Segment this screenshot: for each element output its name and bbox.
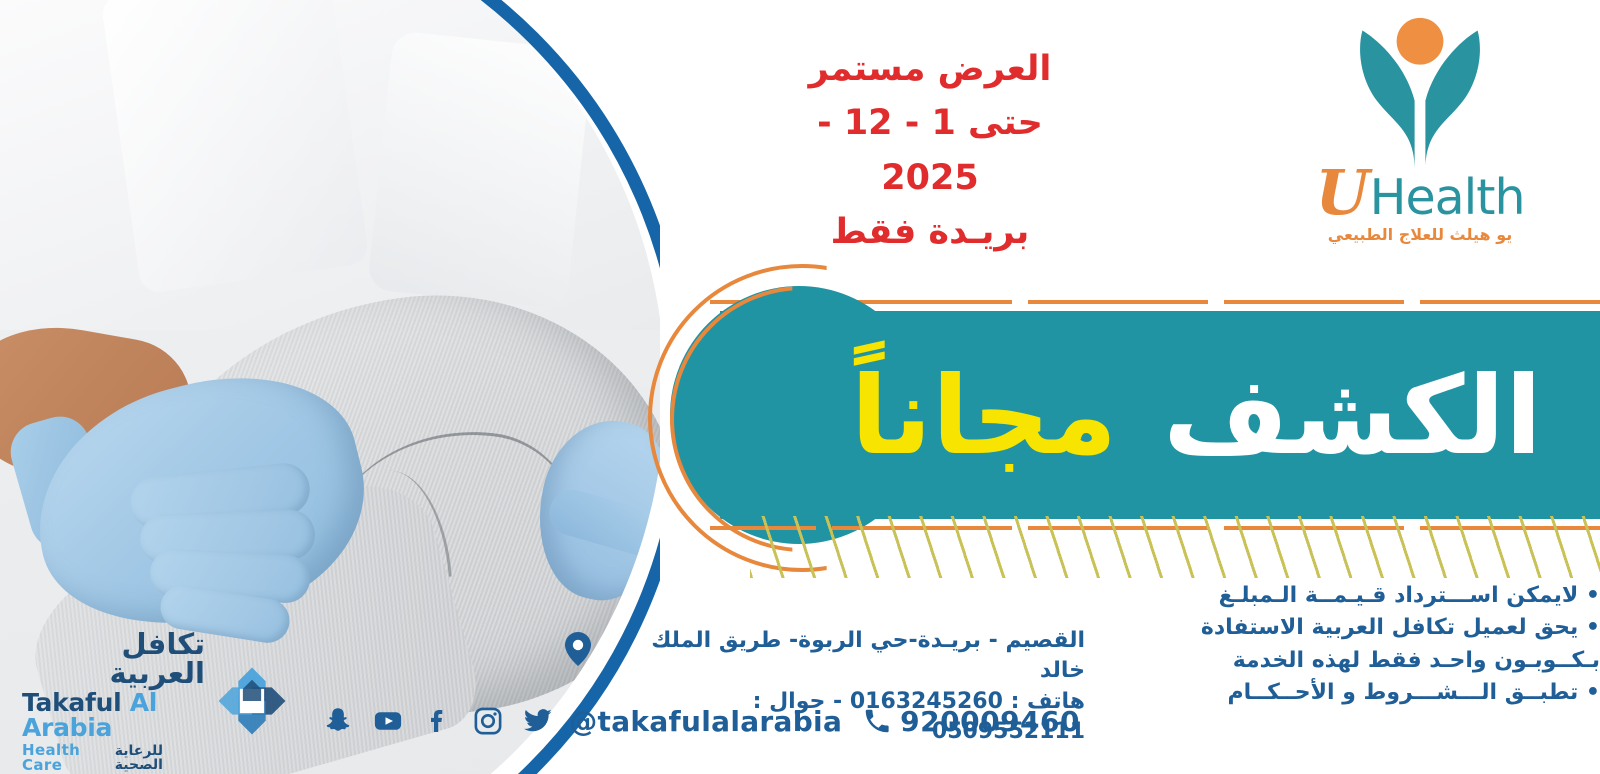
takaful-english-sub: Health Care: [22, 743, 115, 773]
uhealth-wordmark: U Health: [1316, 168, 1525, 220]
uhealth-u-letter: U: [1316, 168, 1370, 218]
social-row: 920009460 @takafulalarabia: [420, 698, 1080, 744]
address-line: القصيم - بريـدة-حي الربوة- طريق الملك خا…: [601, 626, 1085, 687]
twitter-icon[interactable]: [523, 706, 553, 736]
term-text: لايمكن اســـترداد قـيـمــة الـمبلـغ: [1138, 580, 1600, 612]
promo-line-2: حتى 1 - 12 - 2025: [780, 96, 1080, 205]
location-pin-icon: [565, 632, 591, 666]
takaful-al-arabia-logo: تكافل العربية Takaful Al Arabia Health C…: [22, 648, 290, 754]
phone-icon: [862, 706, 892, 736]
takaful-arabic-sub: للرعاية الصحية: [115, 744, 205, 772]
diagonal-hatch-pattern: [750, 516, 1600, 578]
terms-list: لايمكن اســـترداد قـيـمــة الـمبلـغ يحق …: [1130, 580, 1600, 709]
list-item: تطبــق الـــشـــروط و الأحــكــام: [1138, 677, 1600, 709]
term-text: تطبــق الـــشـــروط و الأحــكــام: [1138, 677, 1600, 709]
promo-banner: تكافل العربية Takaful Al Arabia Health C…: [0, 0, 1600, 774]
geometric-star-icon: [214, 663, 290, 739]
uhealth-health-text: Health: [1370, 176, 1525, 220]
takaful-english-name: Takaful Al Arabia: [22, 690, 205, 740]
headline-word-white: الكشف: [1163, 363, 1542, 471]
takaful-wordmark: تكافل العربية Takaful Al Arabia Health C…: [22, 630, 205, 773]
list-item: يحق لعميل تكافل العربية الاستفادة بـكــو…: [1138, 612, 1600, 677]
phone-contact[interactable]: 920009460: [862, 705, 1080, 738]
uhealth-arabic-tagline: يو هيلث للعلاج الطبيعي: [1328, 225, 1512, 244]
term-text: يحق لعميل تكافل العربية الاستفادة: [1138, 612, 1600, 644]
facebook-icon[interactable]: [423, 706, 453, 736]
promo-line-3: بريـدة فقط: [780, 205, 1080, 259]
person-figure-icon: [1330, 14, 1510, 172]
social-icons: [323, 706, 553, 736]
youtube-icon[interactable]: [373, 706, 403, 736]
uhealth-logo: U Health يو هيلث للعلاج الطبيعي: [1295, 14, 1545, 262]
headline-banner: الكشف مجاناً: [640, 268, 1600, 568]
promo-validity-text: العرض مستمر حتى 1 - 12 - 2025 بريـدة فقط: [780, 42, 1080, 259]
doctor-coat: [0, 0, 660, 330]
headline-word-yellow: مجاناً: [851, 363, 1117, 471]
term-text-continuation: بـكــوبـون واحـد فقط لهذه الخدمة: [1138, 645, 1600, 677]
instagram-icon[interactable]: [473, 706, 503, 736]
social-handle[interactable]: @takafulalarabia: [569, 705, 842, 738]
promo-line-1: العرض مستمر: [780, 42, 1080, 96]
contact-block: القصيم - بريـدة-حي الربوة- طريق الملك خا…: [565, 626, 1085, 696]
takaful-arabic-name: تكافل العربية: [22, 630, 205, 688]
takaful-sub-row: Health Care للرعاية الصحية: [22, 743, 205, 773]
support-phone-number: 920009460: [900, 705, 1080, 738]
headline-text: الكشف مجاناً: [740, 334, 1560, 499]
list-item: لايمكن اســـترداد قـيـمــة الـمبلـغ: [1138, 580, 1600, 612]
snapchat-icon[interactable]: [323, 706, 353, 736]
terms-items: لايمكن اســـترداد قـيـمــة الـمبلـغ يحق …: [1138, 580, 1600, 709]
